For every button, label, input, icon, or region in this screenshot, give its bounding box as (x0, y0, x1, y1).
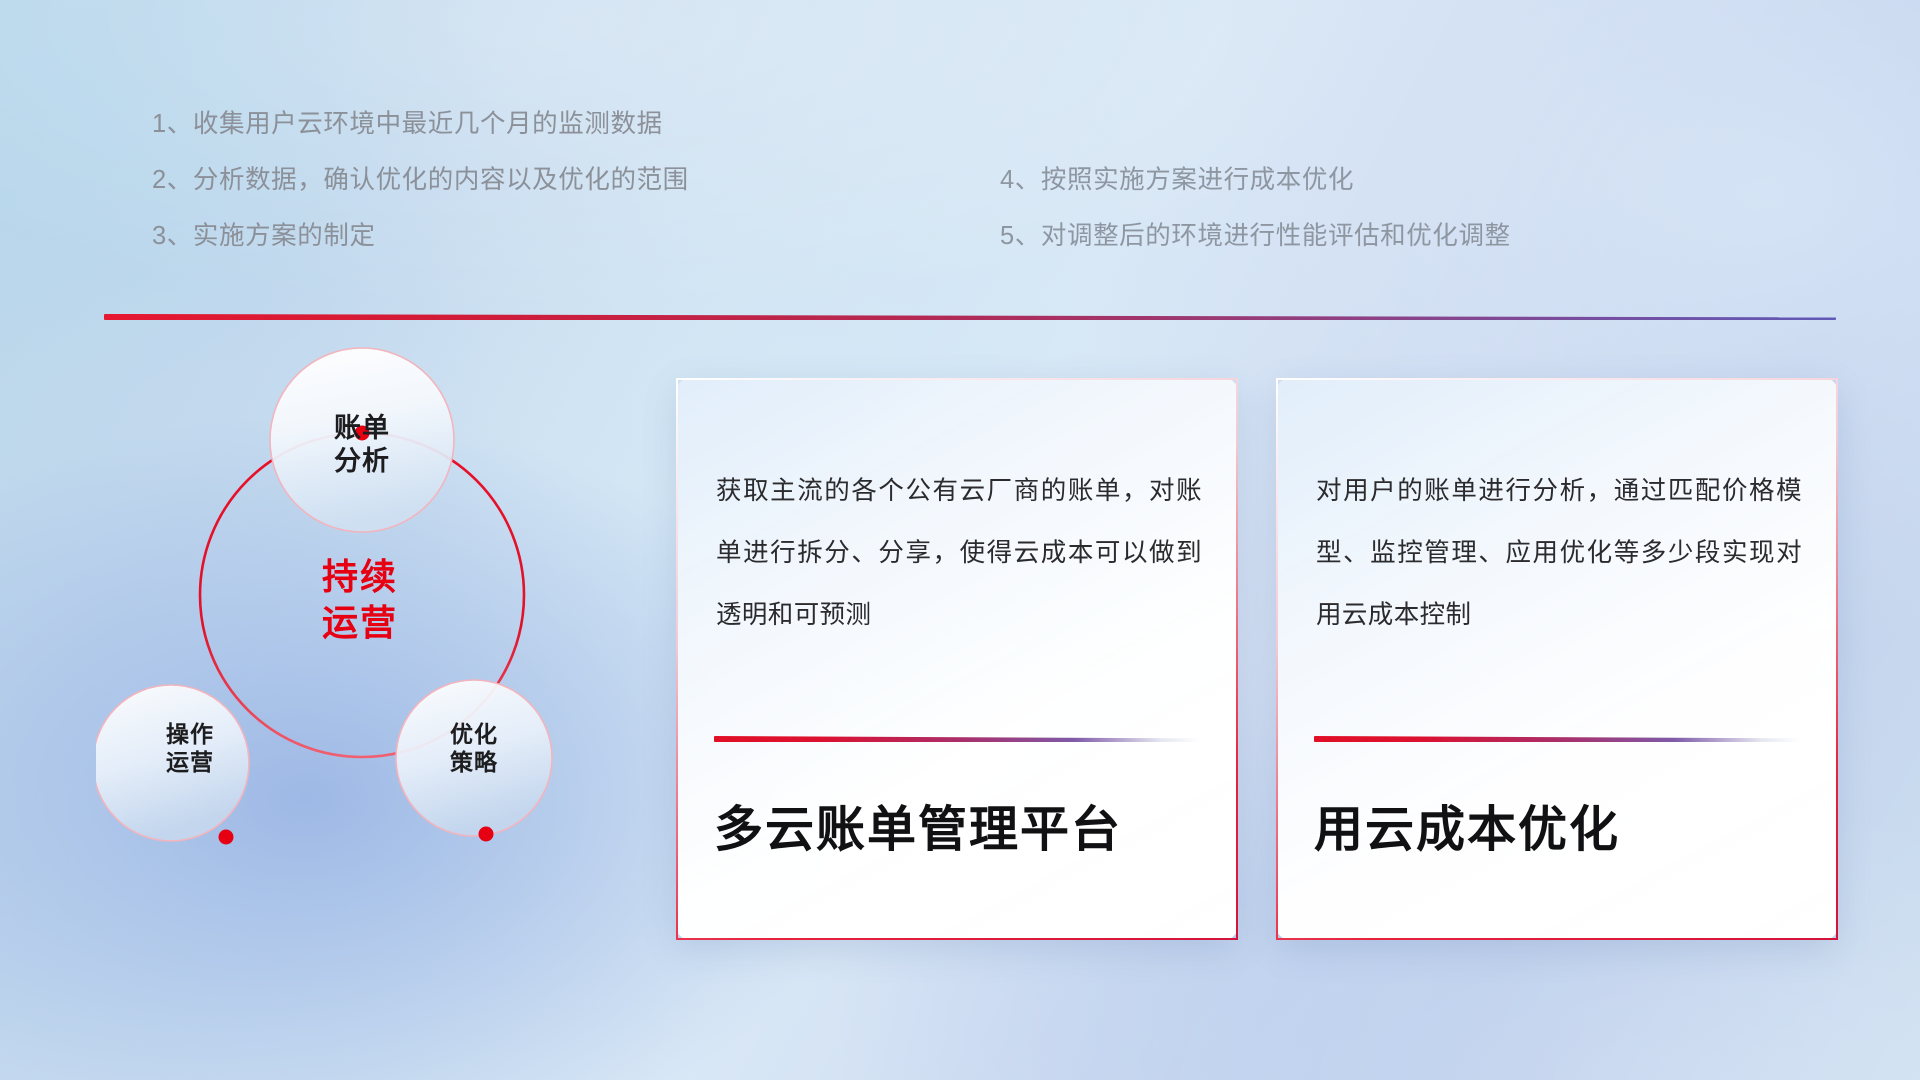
feature-card-cloud-cost-optimization[interactable]: 对用户的账单进行分析，通过匹配价格模型、监控管理、应用优化等多少段实现对用云成本… (1276, 378, 1838, 940)
step-item-5: 5、对调整后的环境进行性能评估和优化调整 (1000, 208, 1511, 264)
feature-card-multi-cloud-billing-platform[interactable]: 获取主流的各个公有云厂商的账单，对账单进行拆分、分享，使得云成本可以做到透明和可… (676, 378, 1238, 940)
step-item-2: 2、分析数据，确认优化的内容以及优化的范围 (152, 152, 689, 208)
step-item-4: 4、按照实施方案进行成本优化 (1000, 152, 1511, 208)
card-body-text: 获取主流的各个公有云厂商的账单，对账单进行拆分、分享，使得云成本可以做到透明和可… (716, 460, 1202, 646)
card-title: 用云成本优化 (1314, 790, 1806, 861)
step-item-1: 1、收集用户云环境中最近几个月的监测数据 (152, 96, 689, 152)
node-label-operations: 操作 运营 (120, 720, 260, 776)
connector-dot-right (479, 827, 494, 842)
card-divider-rule (714, 736, 1200, 742)
connector-dot-left (219, 830, 234, 845)
continuous-operations-diagram: 账单 分析 操作 运营 优化 策略 持续 运营 (96, 340, 616, 940)
card-body-text: 对用户的账单进行分析，通过匹配价格模型、监控管理、应用优化等多少段实现对用云成本… (1316, 460, 1802, 646)
steps-list-right: 4、按照实施方案进行成本优化 5、对调整后的环境进行性能评估和优化调整 (1000, 152, 1511, 264)
diagram-center-label: 持续 运营 (268, 554, 452, 646)
card-divider-rule (1314, 736, 1800, 742)
node-label-billing-analysis: 账单 分析 (292, 412, 432, 478)
step-item-3: 3、实施方案的制定 (152, 208, 689, 264)
steps-list-left: 1、收集用户云环境中最近几个月的监测数据 2、分析数据，确认优化的内容以及优化的… (152, 96, 689, 264)
node-label-optimization-strategy: 优化 策略 (404, 720, 544, 776)
card-title: 多云账单管理平台 (714, 790, 1206, 861)
